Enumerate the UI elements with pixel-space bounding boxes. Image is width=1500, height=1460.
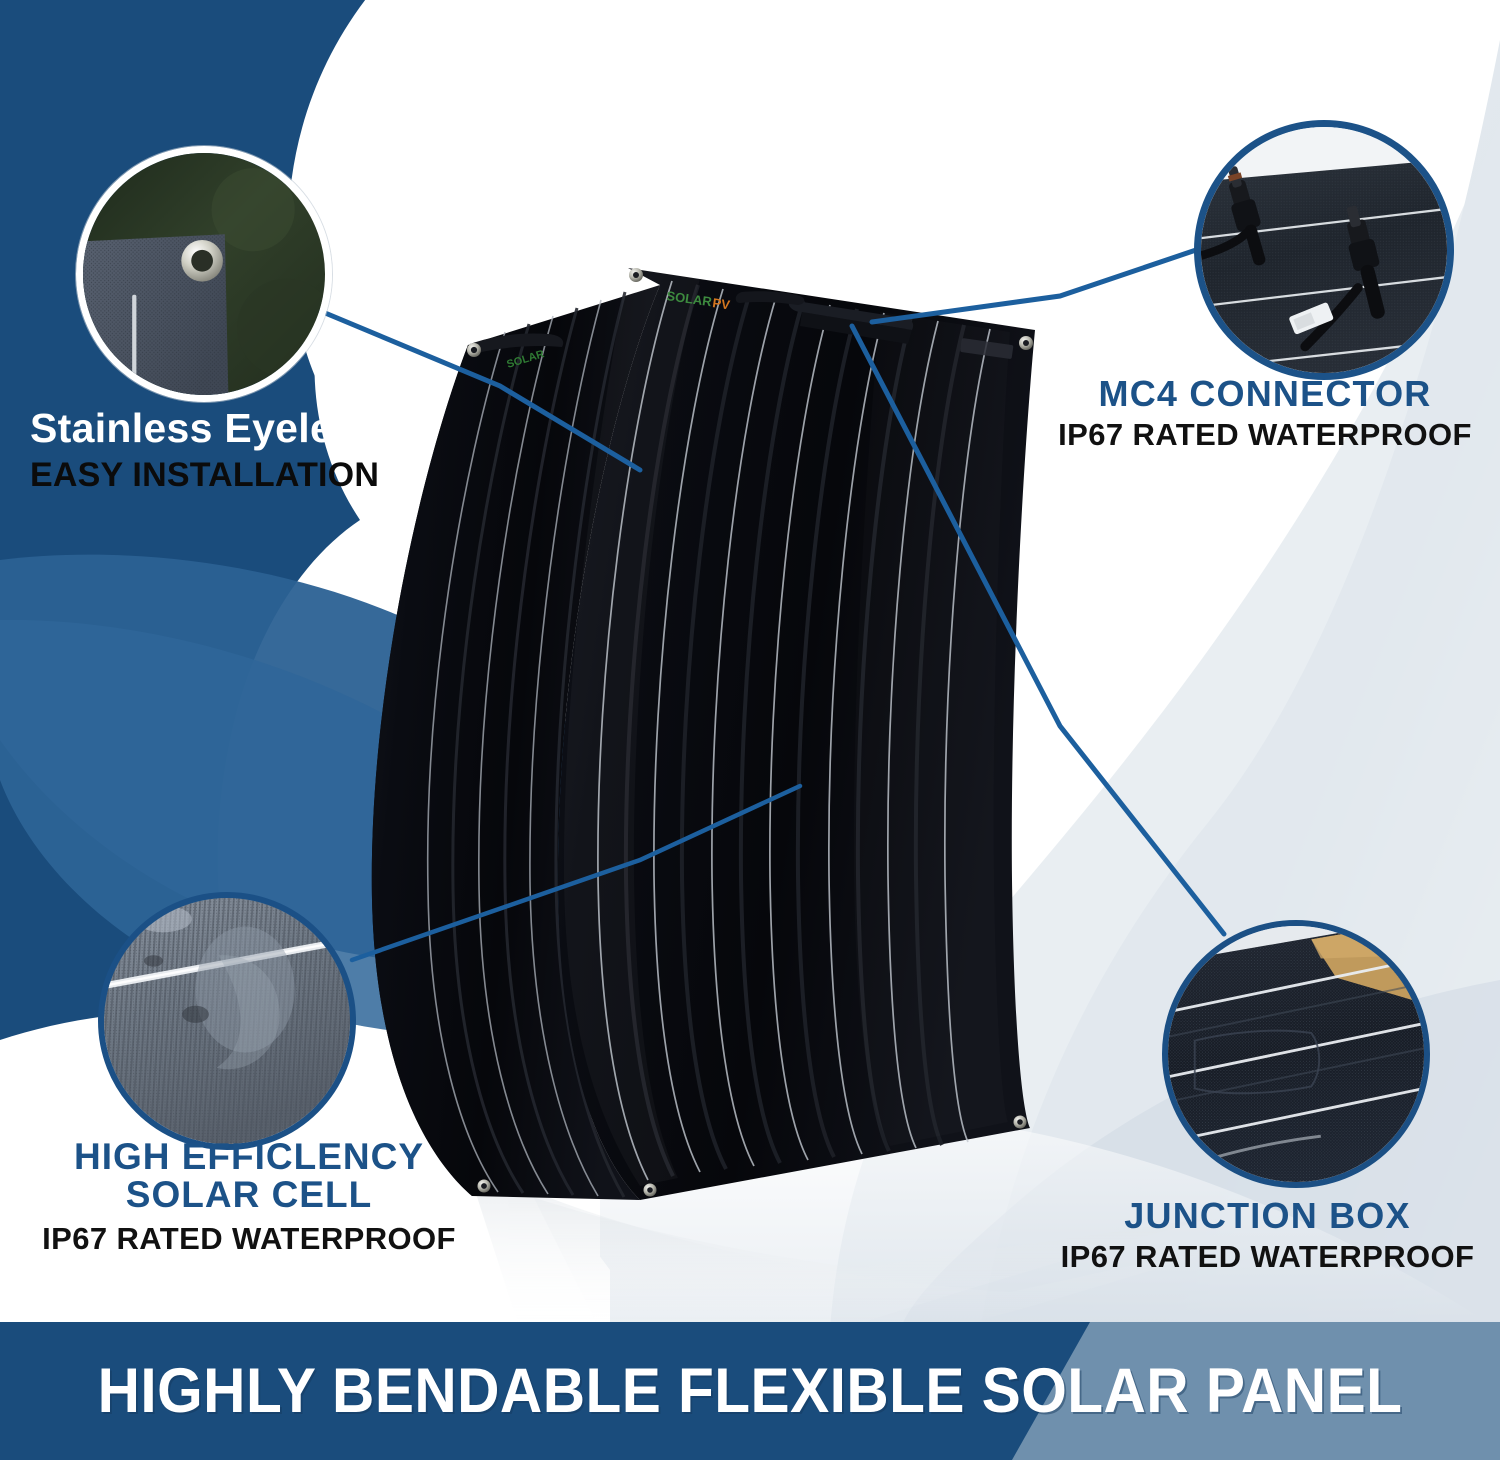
caption-title: Stainless Eyelets (30, 408, 460, 450)
product-infographic: SOLAR (0, 0, 1500, 1460)
caption-solar-cell: HIGH EFFICLENCY SOLAR CELL IP67 RATED WA… (14, 1138, 484, 1255)
photo-panel-corner-grommet (83, 153, 325, 395)
photo-junction-box-macro (1168, 926, 1424, 1182)
svg-text:PV: PV (712, 295, 732, 312)
solar-panel-front: SOLAR PV (558, 268, 1035, 1200)
caption-subtitle: IP67 RATED WATERPROOF (1040, 419, 1490, 451)
caption-stainless-eyelets: Stainless Eyelets EASY INSTALLATION (30, 408, 460, 492)
callout-circle-mc4-connector (1194, 120, 1454, 380)
caption-subtitle: IP67 RATED WATERPROOF (14, 1223, 484, 1255)
photo-mc4-connectors (1201, 127, 1447, 373)
caption-subtitle: IP67 RATED WATERPROOF (1040, 1241, 1495, 1273)
caption-title: MC4 CONNECTOR (1040, 376, 1490, 413)
photo-solar-cell-macro (104, 898, 350, 1144)
caption-title-line1: HIGH EFFICLENCY (14, 1138, 484, 1176)
caption-title: JUNCTION BOX (1040, 1198, 1495, 1235)
banner-title: HIGHLY BENDABLE FLEXIBLE SOLAR PANEL (53, 1322, 1448, 1460)
caption-subtitle: EASY INSTALLATION (30, 458, 460, 493)
bottom-banner: HIGHLY BENDABLE FLEXIBLE SOLAR PANEL (0, 1322, 1500, 1460)
callout-circle-solar-cell (98, 892, 356, 1150)
caption-mc4-connector: MC4 CONNECTOR IP67 RATED WATERPROOF (1040, 376, 1490, 450)
callout-circle-junction-box (1162, 920, 1430, 1188)
callout-circle-stainless-eyelets (76, 146, 332, 402)
caption-title-line2: SOLAR CELL (14, 1176, 484, 1214)
caption-junction-box: JUNCTION BOX IP67 RATED WATERPROOF (1040, 1198, 1495, 1272)
